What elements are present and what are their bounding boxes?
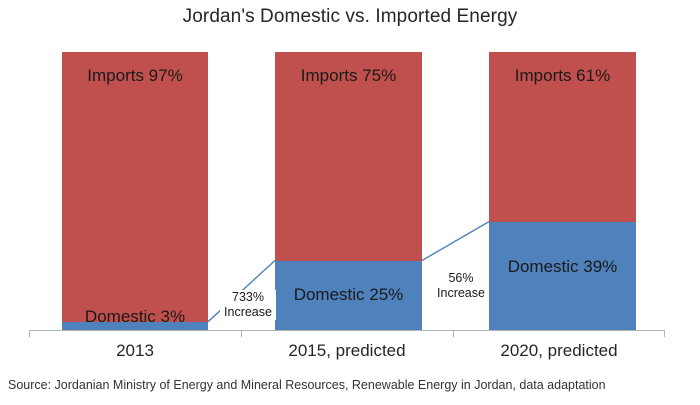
x-axis-label-2013: 2013	[29, 341, 241, 361]
x-axis-line	[29, 330, 665, 331]
annotation-733-increase: 733% Increase	[220, 290, 276, 320]
annotation-56-increase: 56% Increase	[433, 271, 489, 301]
annotation-733-word: Increase	[220, 305, 276, 320]
annotation-56-value: 56%	[433, 271, 489, 286]
x-axis-label-2015: 2015, predicted	[241, 341, 453, 361]
bar-2013-label-domestic: Domestic 3%	[62, 307, 208, 327]
x-axis-tick-start	[29, 330, 30, 337]
x-axis-tick-1	[241, 330, 242, 337]
annotation-56-word: Increase	[433, 286, 489, 301]
x-axis-label-2020: 2020, predicted	[453, 341, 665, 361]
annotation-733-value: 733%	[220, 290, 276, 305]
source-note: Source: Jordanian Ministry of Energy and…	[8, 378, 606, 392]
x-axis-tick-end	[664, 330, 665, 337]
x-axis-tick-2	[453, 330, 454, 337]
connector-2015-to-2020	[422, 222, 489, 261]
chart-container: Jordan's Domestic vs. Imported Energy Im…	[0, 0, 700, 405]
plot-area: Imports 97% Domestic 3% Imports 75% Dome…	[0, 0, 700, 405]
